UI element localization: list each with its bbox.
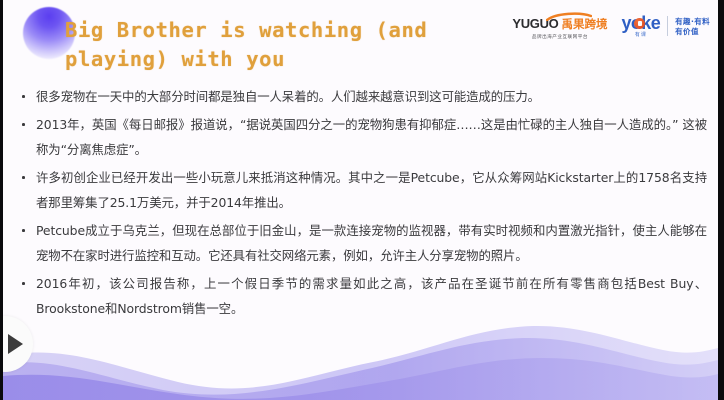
page-title: Big Brother is watching (and playing) wi… [65, 16, 485, 74]
video-player-frame: Big Brother is watching (and playing) wi… [0, 0, 724, 400]
yoke-slogan-line-2: 有价值 [675, 27, 710, 36]
yuguo-swoosh-icon [546, 12, 592, 21]
list-item: 很多宠物在一天中的大部分时间都是独自一人呆着的。人们越来越意识到这可能造成的压力… [17, 84, 707, 109]
yuguo-tagline: 品牌出海产业互联网平台 [532, 34, 588, 40]
list-item: Petcube成立于乌克兰，但现在总部位于旧金山，是一款连接宠物的监视器，带有实… [17, 218, 707, 268]
list-item: 许多初创企业已经开发出一些小玩意儿来抵消这种情况。其中之一是Petcube，它从… [17, 165, 707, 215]
play-button[interactable] [3, 316, 33, 372]
yoke-slogan-line-1: 有趣·有料 [675, 17, 710, 26]
logo-bar: YUGUO 禹果跨境 品牌出海产业互联网平台 yoke 有课 有趣·有料 有价值 [512, 12, 710, 40]
logo-divider [667, 16, 668, 36]
slide-canvas: Big Brother is watching (and playing) wi… [3, 0, 718, 400]
play-icon [8, 334, 23, 354]
yuguo-logo: YUGUO 禹果跨境 品牌出海产业互联网平台 [512, 12, 607, 40]
yoke-slogan: 有趣·有料 有价值 [675, 17, 710, 36]
yoke-wordmark-block: yoke 有课 [622, 14, 661, 38]
yoke-dot-icon [634, 18, 645, 29]
list-item: 2016年初，该公司报告称，上一个假日季节的需求量如此之高，该产品在圣诞节前在所… [17, 271, 707, 321]
list-item: 2013年，英国《每日邮报》报道说，“据说英国四分之一的宠物狗患有抑郁症……这是… [17, 112, 707, 162]
bullet-list: 很多宠物在一天中的大部分时间都是独自一人呆着的。人们越来越意识到这可能造成的压力… [17, 84, 707, 324]
yoke-logo: yoke 有课 有趣·有料 有价值 [622, 14, 711, 38]
